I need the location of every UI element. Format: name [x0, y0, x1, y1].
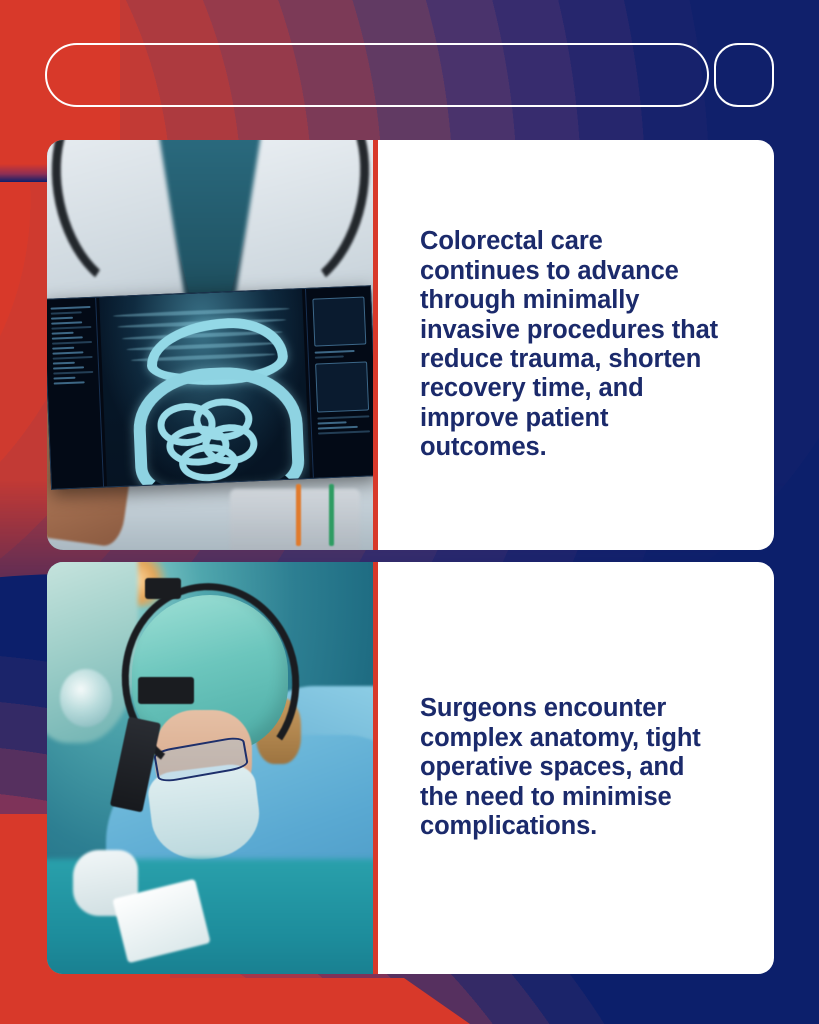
header-pill-row	[45, 43, 774, 107]
surgeon-illustration	[47, 562, 373, 974]
card-text-panel-surgeons-challenges: Surgeons encounter complex anatomy, tigh…	[378, 562, 774, 974]
card-image-doctor-holding-colorectal-xray	[47, 140, 378, 550]
xray-right-readout-panel	[305, 286, 378, 477]
headband-top-clip	[145, 578, 181, 599]
content-card-surgeons-challenges: Surgeons encounter complex anatomy, tigh…	[47, 562, 774, 974]
bottom-red-diagonal-band	[0, 978, 470, 1024]
card-paragraph-surgeons-challenges: Surgeons encounter complex anatomy, tigh…	[420, 694, 701, 841]
card-image-surgeon-operating-theatre	[47, 562, 378, 974]
content-card-colorectal-care: Colorectal care continues to advance thr…	[47, 140, 774, 550]
instrument-tray	[230, 489, 360, 551]
doctor-xray-illustration	[47, 140, 373, 550]
vitals-waveform-chart	[312, 296, 366, 347]
xray-anatomy-area	[100, 289, 310, 486]
secondary-trend-chart	[315, 362, 369, 413]
card-text-panel-colorectal-care: Colorectal care continues to advance thr…	[378, 140, 774, 550]
headband-side-clip	[138, 677, 193, 704]
xray-left-readout-panel	[47, 297, 104, 488]
card-paragraph-colorectal-care: Colorectal care continues to advance thr…	[420, 227, 718, 463]
assistant-loupe-lens	[60, 669, 112, 727]
header-action-pill[interactable]	[714, 43, 774, 107]
poster-canvas: Colorectal care continues to advance thr…	[0, 0, 819, 1024]
header-title-pill[interactable]	[45, 43, 709, 107]
digital-xray-film	[47, 285, 378, 489]
